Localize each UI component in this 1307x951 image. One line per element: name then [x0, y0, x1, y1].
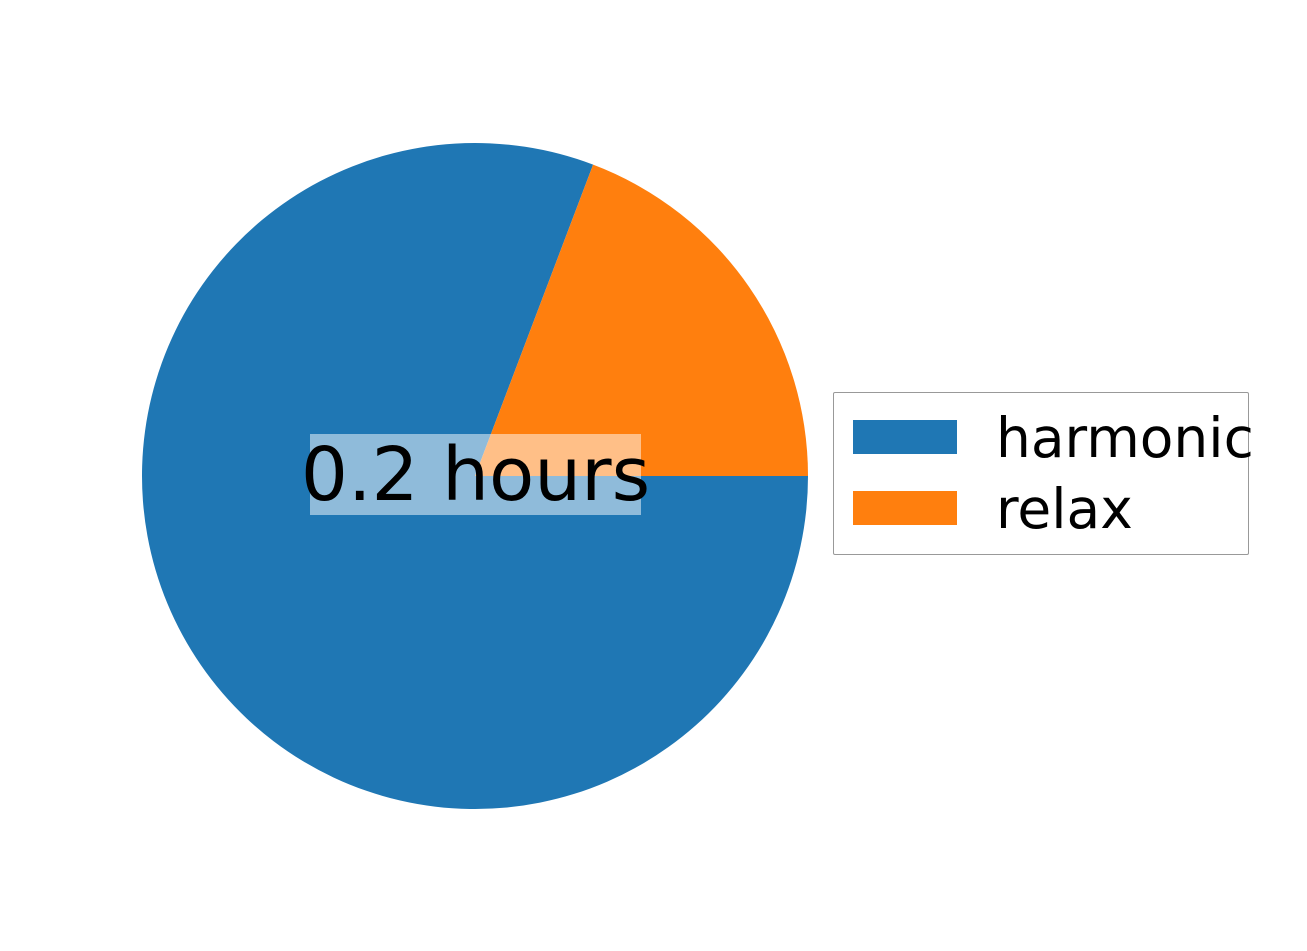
legend-item-harmonic[interactable]: harmonic: [853, 420, 1254, 454]
pie-slice-label-relax: 0.2 hours: [310, 434, 641, 515]
figure-canvas: 0.2 hours harmonic relax: [0, 0, 1307, 951]
legend-item-relax[interactable]: relax: [853, 491, 1133, 525]
legend-label-relax: relax: [996, 482, 1133, 537]
legend-swatch-relax: [853, 491, 957, 525]
chart-legend: harmonic relax: [833, 392, 1249, 555]
legend-swatch-harmonic: [853, 420, 957, 454]
legend-label-harmonic: harmonic: [996, 411, 1254, 466]
